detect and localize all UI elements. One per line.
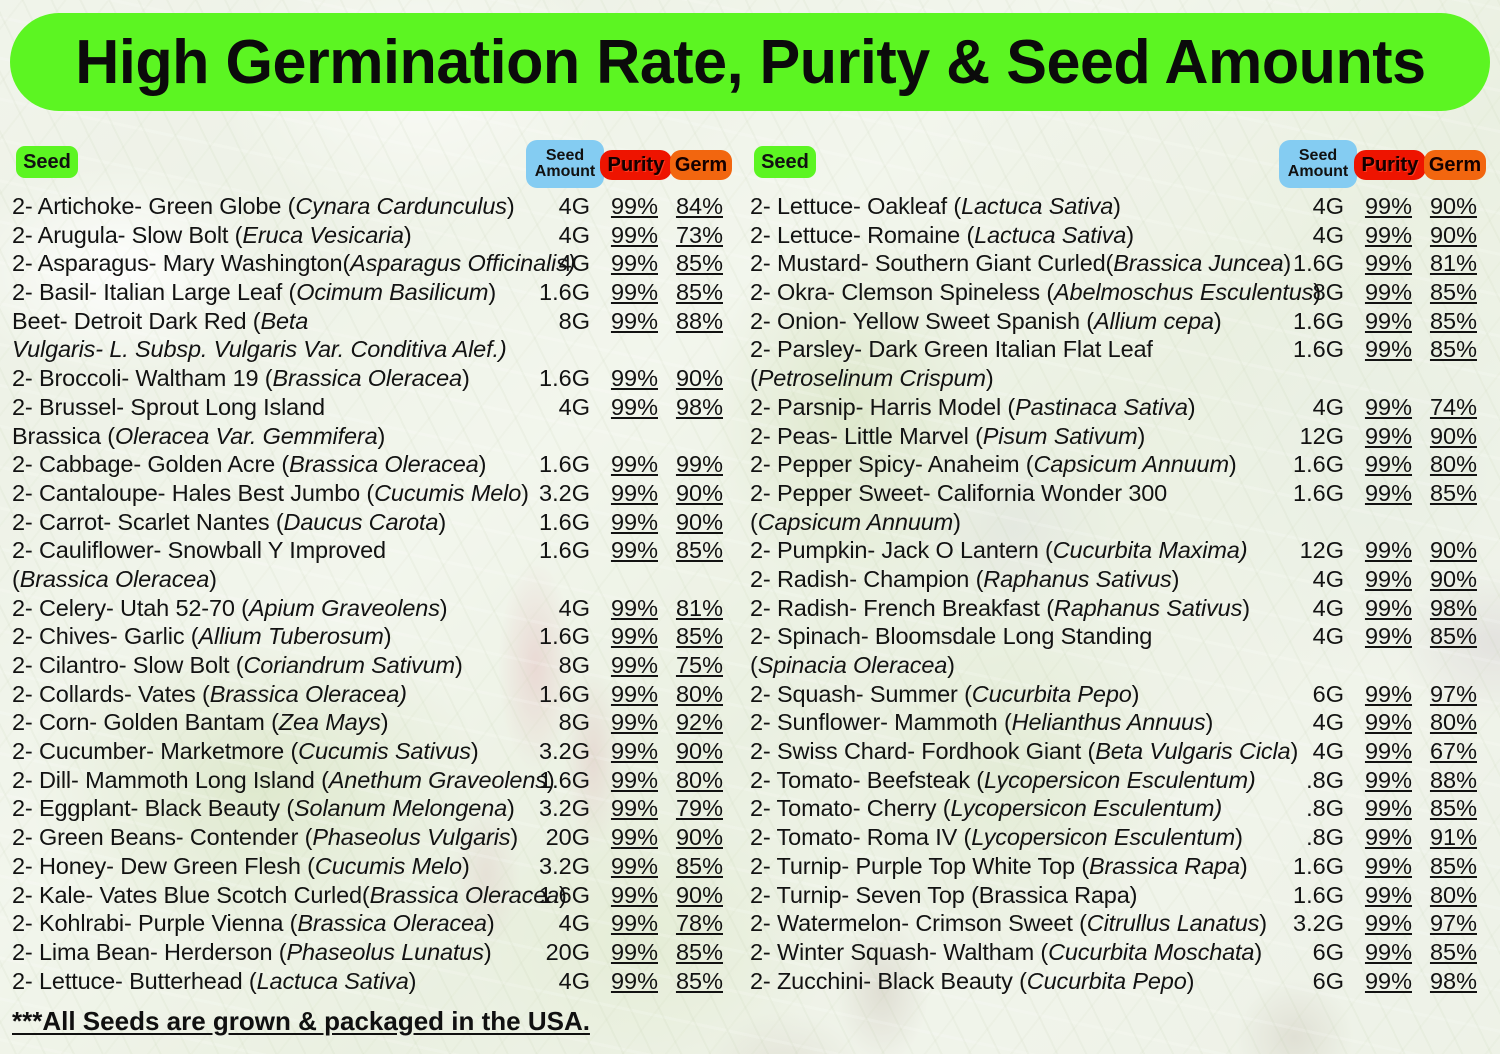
- purity-value: 99%: [596, 249, 658, 278]
- seed-amount-value: 20G: [516, 938, 590, 967]
- seed-row: 2- Onion- Yellow Sweet Spanish (Allium c…: [746, 307, 1494, 336]
- purity-value: 99%: [1350, 422, 1412, 451]
- seed-name: 2- Kohlrabi- Purple Vienna (Brassica Ole…: [12, 909, 495, 938]
- germ-value: 91%: [1419, 823, 1477, 852]
- seed-amount-value: 4G: [1270, 594, 1344, 623]
- scientific-name: Cucumis Melo: [315, 853, 462, 879]
- seed-row: 2- Parsley- Dark Green Italian Flat Leaf…: [746, 335, 1494, 364]
- scientific-name: Lycopersicon Esculentum): [984, 767, 1256, 793]
- scientific-name: Capsicum Annuum: [1033, 451, 1228, 477]
- seed-amount-value: 4G: [516, 393, 590, 422]
- seed-amount-value: 4G: [516, 594, 590, 623]
- seed-row: 2- Cucumber- Marketmore (Cucumis Sativus…: [8, 737, 734, 766]
- germ-value: 85%: [1419, 278, 1477, 307]
- seed-name: 2- Corn- Golden Bantam (Zea Mays): [12, 708, 388, 737]
- seed-amount-value: 1.6G: [1270, 479, 1344, 508]
- seed-name: 2- Basil- Italian Large Leaf (Ocimum Bas…: [12, 278, 496, 307]
- seed-amount-value: 4G: [516, 909, 590, 938]
- seed-row: 2- Green Beans- Contender (Phaseolus Vul…: [8, 823, 734, 852]
- seed-amount-value: 12G: [1270, 536, 1344, 565]
- seed-amount-value: 8G: [1270, 278, 1344, 307]
- seed-name: (Spinacia Oleracea): [750, 651, 955, 680]
- seed-name: 2- Swiss Chard- Fordhook Giant (Beta Vul…: [750, 737, 1298, 766]
- seed-list-right-column: 2- Lettuce- Oakleaf (Lactuca Sativa)4G99…: [746, 192, 1494, 995]
- germ-value: 85%: [1419, 938, 1477, 967]
- purity-value: 99%: [596, 794, 658, 823]
- scientific-name: Cucumis Melo: [374, 480, 521, 506]
- seed-name: 2- Radish- Champion (Raphanus Sativus): [750, 565, 1179, 594]
- purity-value: 99%: [596, 594, 658, 623]
- seed-amount-value: 4G: [1270, 393, 1344, 422]
- seed-name: 2- Winter Squash- Waltham (Cucurbita Mos…: [750, 938, 1262, 967]
- seed-name: 2- Tomato- Roma IV (Lycopersicon Esculen…: [750, 823, 1243, 852]
- seed-name: 2- Onion- Yellow Sweet Spanish (Allium c…: [750, 307, 1222, 336]
- seed-name: 2- Tomato- Beefsteak (Lycopersicon Escul…: [750, 766, 1256, 795]
- seed-row: (Capsicum Annuum): [746, 508, 1494, 537]
- seed-amount-value: 12G: [1270, 422, 1344, 451]
- seed-name: 2- Eggplant- Black Beauty (Solanum Melon…: [12, 794, 515, 823]
- purity-value: 99%: [596, 192, 658, 221]
- seed-name: 2- Lettuce- Oakleaf (Lactuca Sativa): [750, 192, 1121, 221]
- seed-amount-value: 1.6G: [516, 622, 590, 651]
- seed-name: 2- Celery- Utah 52-70 (Apium Graveolens): [12, 594, 447, 623]
- seed-row: 2- Arugula- Slow Bolt (Eruca Vesicaria)4…: [8, 221, 734, 250]
- purity-value: 99%: [596, 909, 658, 938]
- seed-amount-value: 1.6G: [516, 450, 590, 479]
- seed-row: 2- Zucchini- Black Beauty (Cucurbita Pep…: [746, 967, 1494, 996]
- seed-name: 2- Cauliflower- Snowball Y Improved: [12, 536, 386, 565]
- germ-value: 90%: [1419, 422, 1477, 451]
- purity-value: 99%: [1350, 794, 1412, 823]
- seed-row: 2- Lettuce- Romaine (Lactuca Sativa)4G99…: [746, 221, 1494, 250]
- scientific-name: Solanum Melongena: [294, 795, 507, 821]
- seed-name: 2- Green Beans- Contender (Phaseolus Vul…: [12, 823, 518, 852]
- germ-value: 78%: [665, 909, 723, 938]
- seed-name: 2- Kale- Vates Blue Scotch Curled(Brassi…: [12, 881, 567, 910]
- purity-value: 99%: [1350, 852, 1412, 881]
- seed-amount-value: 20G: [516, 823, 590, 852]
- seed-row: (Brassica Oleracea): [8, 565, 734, 594]
- purity-value: 99%: [596, 508, 658, 537]
- scientific-name: Cucurbita Pepo: [972, 681, 1132, 707]
- purity-value: 99%: [1350, 881, 1412, 910]
- germ-value: 99%: [665, 450, 723, 479]
- seed-amount-value: 4G: [1270, 221, 1344, 250]
- seed-name: 2- Sunflower- Mammoth (Helianthus Annuus…: [750, 708, 1213, 737]
- seed-amount-value: .8G: [1270, 766, 1344, 795]
- seed-row: 2- Winter Squash- Waltham (Cucurbita Mos…: [746, 938, 1494, 967]
- germ-value: 90%: [665, 508, 723, 537]
- purity-column-header-badge: Purity: [1354, 150, 1426, 180]
- scientific-name: Cucumis Sativus: [298, 738, 471, 764]
- seed-row: 2- Artichoke- Green Globe (Cynara Cardun…: [8, 192, 734, 221]
- purity-value: 99%: [1350, 221, 1412, 250]
- germ-value: 85%: [665, 249, 723, 278]
- seed-name: 2- Cilantro- Slow Bolt (Coriandrum Sativ…: [12, 651, 463, 680]
- seed-row: 2- Kohlrabi- Purple Vienna (Brassica Ole…: [8, 909, 734, 938]
- germ-value: 85%: [665, 622, 723, 651]
- seed-amount-value: 1.6G: [1270, 249, 1344, 278]
- seed-row: Vulgaris- L. Subsp. Vulgaris Var. Condit…: [8, 335, 734, 364]
- scientific-name: Petroselinum Crispum: [758, 365, 986, 391]
- germ-value: 80%: [1419, 450, 1477, 479]
- scientific-name: Capsicum Annuum: [758, 509, 953, 535]
- purity-value: 99%: [1350, 249, 1412, 278]
- seed-row: 2- Collards- Vates (Brassica Oleracea)1.…: [8, 680, 734, 709]
- scientific-name: Cynara Cardunculus: [295, 193, 507, 219]
- purity-value: 99%: [596, 278, 658, 307]
- scientific-name: Brassica Oleracea: [289, 451, 478, 477]
- seed-amount-value: 4G: [516, 249, 590, 278]
- scientific-name: Coriandrum Sativum: [243, 652, 455, 678]
- germ-value: 74%: [1419, 393, 1477, 422]
- seed-name: 2- Watermelon- Crimson Sweet (Citrullus …: [750, 909, 1267, 938]
- purity-value: 99%: [1350, 737, 1412, 766]
- scientific-name: Pisum Sativum: [983, 423, 1138, 449]
- scientific-name: Lactuca Sativa: [257, 968, 409, 994]
- seed-row: 2- Okra- Clemson Spineless (Abelmoschus …: [746, 278, 1494, 307]
- scientific-name: Cucurbita Moschata: [1048, 939, 1254, 965]
- purity-value: 99%: [596, 536, 658, 565]
- seed-amount-value: 1.6G: [1270, 881, 1344, 910]
- seed-row: 2- Turnip- Seven Top (Brassica Rapa)1.6G…: [746, 881, 1494, 910]
- scientific-name: Anethum Graveolens: [329, 767, 547, 793]
- germ-value: 90%: [665, 737, 723, 766]
- germ-value: 85%: [1419, 852, 1477, 881]
- scientific-name: Pastinaca Sativa: [1015, 394, 1188, 420]
- seed-amount-value: .8G: [1270, 823, 1344, 852]
- germ-value: 85%: [665, 852, 723, 881]
- seed-name: 2- Collards- Vates (Brassica Oleracea): [12, 680, 407, 709]
- purity-column-header-badge: Purity: [600, 150, 672, 180]
- seed-amount-value: 6G: [1270, 680, 1344, 709]
- purity-value: 99%: [1350, 909, 1412, 938]
- seed-name: (Petroselinum Crispum): [750, 364, 994, 393]
- germ-value: 85%: [1419, 794, 1477, 823]
- seed-row: 2- Lima Bean- Herderson (Phaseolus Lunat…: [8, 938, 734, 967]
- purity-value: 99%: [596, 479, 658, 508]
- purity-value: 99%: [1350, 622, 1412, 651]
- seed-column-header-badge: Seed: [16, 146, 78, 178]
- seed-amount-label-line2: Amount: [535, 164, 595, 180]
- seed-amount-value: 4G: [1270, 565, 1344, 594]
- seed-row: 2- Honey- Dew Green Flesh (Cucumis Melo)…: [8, 852, 734, 881]
- seed-name: 2- Turnip- Seven Top (Brassica Rapa): [750, 881, 1137, 910]
- scientific-name: Lactuca Sativa: [974, 222, 1126, 248]
- germ-value: 90%: [665, 823, 723, 852]
- scientific-name: Raphanus Sativus: [983, 566, 1171, 592]
- seed-amount-label-line2: Amount: [1288, 164, 1348, 180]
- seed-amount-value: 1.6G: [516, 536, 590, 565]
- purity-value: 99%: [1350, 479, 1412, 508]
- germ-value: 90%: [665, 881, 723, 910]
- seed-name: 2- Artichoke- Green Globe (Cynara Cardun…: [12, 192, 515, 221]
- germ-value: 85%: [1419, 335, 1477, 364]
- seed-row: (Petroselinum Crispum): [746, 364, 1494, 393]
- seed-amount-column-header-badge: Seed Amount: [1279, 140, 1357, 188]
- seed-amount-value: 1.6G: [516, 680, 590, 709]
- seed-row: 2- Pepper Spicy- Anaheim (Capsicum Annuu…: [746, 450, 1494, 479]
- seed-amount-value: 8G: [516, 708, 590, 737]
- seed-name: Vulgaris- L. Subsp. Vulgaris Var. Condit…: [12, 335, 507, 364]
- seed-row: 2- Watermelon- Crimson Sweet (Citrullus …: [746, 909, 1494, 938]
- scientific-name: Lycopersicon Esculentum): [950, 795, 1222, 821]
- germ-value: 73%: [665, 221, 723, 250]
- scientific-name: Brassica Juncea: [1113, 250, 1283, 276]
- germ-value: 85%: [665, 938, 723, 967]
- germ-value: 80%: [1419, 881, 1477, 910]
- seed-list-left-column: 2- Artichoke- Green Globe (Cynara Cardun…: [8, 192, 734, 995]
- seed-amount-value: 1.6G: [516, 881, 590, 910]
- seed-name: 2- Pepper Spicy- Anaheim (Capsicum Annuu…: [750, 450, 1237, 479]
- seed-name: 2- Okra- Clemson Spineless (Abelmoschus …: [750, 278, 1321, 307]
- seed-row: 2- Tomato- Roma IV (Lycopersicon Esculen…: [746, 823, 1494, 852]
- seed-amount-value: 4G: [1270, 622, 1344, 651]
- purity-value: 99%: [596, 708, 658, 737]
- seed-row: 2- Corn- Golden Bantam (Zea Mays)8G99%92…: [8, 708, 734, 737]
- column-header-right: Seed Seed Amount Purity Germ: [746, 140, 1492, 188]
- seed-row: 2- Radish- French Breakfast (Raphanus Sa…: [746, 594, 1494, 623]
- germ-value: 90%: [1419, 536, 1477, 565]
- seed-row: 2- Broccoli- Waltham 19 (Brassica Olerac…: [8, 364, 734, 393]
- purity-value: 99%: [596, 221, 658, 250]
- germ-column-header-badge: Germ: [670, 150, 732, 180]
- scientific-name: Cucurbita Maxima): [1053, 537, 1248, 563]
- purity-value: 99%: [1350, 823, 1412, 852]
- scientific-name: Brassica Rapa: [1089, 853, 1240, 879]
- seed-row: 2- Cauliflower- Snowball Y Improved1.6G9…: [8, 536, 734, 565]
- purity-value: 99%: [596, 680, 658, 709]
- germ-value: 80%: [665, 766, 723, 795]
- seed-row: 2- Basil- Italian Large Leaf (Ocimum Bas…: [8, 278, 734, 307]
- seed-row: 2- Pepper Sweet- California Wonder 3001.…: [746, 479, 1494, 508]
- page-title-banner: High Germination Rate, Purity & Seed Amo…: [10, 13, 1490, 111]
- scientific-name: Zea Mays: [279, 709, 381, 735]
- germ-value: 97%: [1419, 680, 1477, 709]
- seed-name: 2- Radish- French Breakfast (Raphanus Sa…: [750, 594, 1250, 623]
- purity-value: 99%: [596, 651, 658, 680]
- seed-amount-value: 4G: [516, 967, 590, 996]
- seed-name: 2- Cucumber- Marketmore (Cucumis Sativus…: [12, 737, 479, 766]
- purity-value: 99%: [1350, 766, 1412, 795]
- seed-row: (Spinacia Oleracea): [746, 651, 1494, 680]
- germ-value: 90%: [1419, 565, 1477, 594]
- scientific-name: Eruca Vesicaria: [242, 222, 403, 248]
- scientific-name: Ocimum Basilicum: [296, 279, 488, 305]
- seed-amount-label-line1: Seed: [1299, 148, 1337, 164]
- seed-name: 2- Asparagus- Mary Washington(Asparagus …: [12, 249, 575, 278]
- seed-row: 2- Tomato- Beefsteak (Lycopersicon Escul…: [746, 766, 1494, 795]
- germ-value: 98%: [1419, 967, 1477, 996]
- seed-row: 2- Mustard- Southern Giant Curled(Brassi…: [746, 249, 1494, 278]
- scientific-name: Lycopersicon Esculentum: [971, 824, 1235, 850]
- germ-value: 92%: [665, 708, 723, 737]
- purity-value: 99%: [596, 307, 658, 336]
- scientific-name: Daucus Carota: [284, 509, 439, 535]
- seed-row: 2- Spinach- Bloomsdale Long Standing4G99…: [746, 622, 1494, 651]
- seed-row: 2- Eggplant- Black Beauty (Solanum Melon…: [8, 794, 734, 823]
- seed-name: 2- Lettuce- Romaine (Lactuca Sativa): [750, 221, 1134, 250]
- seed-name: 2- Lettuce- Butterhead (Lactuca Sativa): [12, 967, 416, 996]
- purity-value: 99%: [1350, 708, 1412, 737]
- purity-value: 99%: [596, 737, 658, 766]
- seed-amount-value: 1.6G: [1270, 450, 1344, 479]
- purity-value: 99%: [596, 622, 658, 651]
- seed-amount-value: 4G: [516, 221, 590, 250]
- column-header-left: Seed Seed Amount Purity Germ: [8, 140, 730, 188]
- germ-value: 85%: [1419, 479, 1477, 508]
- seed-amount-value: 1.6G: [1270, 335, 1344, 364]
- seed-row: 2- Lettuce- Oakleaf (Lactuca Sativa)4G99…: [746, 192, 1494, 221]
- seed-row: 2- Cabbage- Golden Acre (Brassica Olerac…: [8, 450, 734, 479]
- germ-value: 90%: [665, 479, 723, 508]
- scientific-name: Beta Vulgaris Cicla: [1095, 738, 1290, 764]
- seed-row: 2- Chives- Garlic (Allium Tuberosum)1.6G…: [8, 622, 734, 651]
- seed-name: 2- Squash- Summer (Cucurbita Pepo): [750, 680, 1139, 709]
- seed-row: 2- Peas- Little Marvel (Pisum Sativum)12…: [746, 422, 1494, 451]
- germ-value: 85%: [665, 536, 723, 565]
- seed-amount-label-line1: Seed: [546, 148, 584, 164]
- purity-value: 99%: [596, 967, 658, 996]
- scientific-name: Allium Tuberosum: [198, 623, 383, 649]
- germ-value: 67%: [1419, 737, 1477, 766]
- germ-value: 88%: [1419, 766, 1477, 795]
- seed-name: 2- Parsley- Dark Green Italian Flat Leaf: [750, 335, 1153, 364]
- purity-value: 99%: [596, 393, 658, 422]
- germ-value: 79%: [665, 794, 723, 823]
- seed-name: 2- Arugula- Slow Bolt (Eruca Vesicaria): [12, 221, 412, 250]
- scientific-name: Citrullus Lanatus: [1087, 910, 1259, 936]
- seed-row: 2- Radish- Champion (Raphanus Sativus)4G…: [746, 565, 1494, 594]
- purity-value: 99%: [1350, 565, 1412, 594]
- seed-name: 2- Honey- Dew Green Flesh (Cucumis Melo): [12, 852, 470, 881]
- seed-name: 2- Carrot- Scarlet Nantes (Daucus Carota…: [12, 508, 446, 537]
- seed-amount-value: 8G: [516, 651, 590, 680]
- seed-row: 2- Swiss Chard- Fordhook Giant (Beta Vul…: [746, 737, 1494, 766]
- germ-value: 88%: [665, 307, 723, 336]
- seed-amount-value: 8G: [516, 307, 590, 336]
- purity-value: 99%: [1350, 450, 1412, 479]
- seed-row: 2- Carrot- Scarlet Nantes (Daucus Carota…: [8, 508, 734, 537]
- germ-value: 75%: [665, 651, 723, 680]
- seed-amount-value: 4G: [1270, 192, 1344, 221]
- seed-amount-value: 4G: [516, 192, 590, 221]
- seed-row: 2- Brussel- Sprout Long Island4G99%98%: [8, 393, 734, 422]
- seed-name: Brassica (Oleracea Var. Gemmifera): [12, 422, 385, 451]
- germ-value: 80%: [1419, 708, 1477, 737]
- purity-value: 99%: [1350, 938, 1412, 967]
- scientific-name: Helianthus Annuus: [1012, 709, 1206, 735]
- seed-amount-value: 3.2G: [516, 852, 590, 881]
- germ-value: 85%: [1419, 307, 1477, 336]
- seed-row: Brassica (Oleracea Var. Gemmifera): [8, 422, 734, 451]
- seed-name: 2- Cantaloupe- Hales Best Jumbo (Cucumis…: [12, 479, 529, 508]
- germ-value: 90%: [1419, 192, 1477, 221]
- scientific-name: Brassica Oleracea: [272, 365, 461, 391]
- page-title: High Germination Rate, Purity & Seed Amo…: [75, 27, 1425, 98]
- seed-row: 2- Parsnip- Harris Model (Pastinaca Sati…: [746, 393, 1494, 422]
- germ-value: 98%: [1419, 594, 1477, 623]
- purity-value: 99%: [596, 766, 658, 795]
- seed-amount-value: 3.2G: [516, 794, 590, 823]
- scientific-name: Spinacia Oleracea: [758, 652, 947, 678]
- seed-name: (Capsicum Annuum): [750, 508, 961, 537]
- seed-amount-value: .8G: [1270, 794, 1344, 823]
- seed-amount-value: 6G: [1270, 938, 1344, 967]
- germ-value: 80%: [665, 680, 723, 709]
- germ-value: 90%: [665, 364, 723, 393]
- seed-amount-value: 3.2G: [516, 737, 590, 766]
- seed-name: 2- Cabbage- Golden Acre (Brassica Olerac…: [12, 450, 486, 479]
- purity-value: 99%: [596, 823, 658, 852]
- scientific-name: Brassica Oleracea: [297, 910, 486, 936]
- germ-value: 81%: [665, 594, 723, 623]
- seed-amount-value: 1.6G: [516, 766, 590, 795]
- scientific-name: Brassica Oleracea: [20, 566, 209, 592]
- germ-value: 85%: [1419, 622, 1477, 651]
- purity-value: 99%: [596, 364, 658, 393]
- seed-row: 2- Lettuce- Butterhead (Lactuca Sativa)4…: [8, 967, 734, 996]
- scientific-name: Phaseolus Vulgaris: [312, 824, 510, 850]
- seed-amount-value: 6G: [1270, 967, 1344, 996]
- germ-column-header-badge: Germ: [1424, 150, 1486, 180]
- purity-value: 99%: [1350, 967, 1412, 996]
- purity-value: 99%: [1350, 335, 1412, 364]
- seed-amount-value: 1.6G: [516, 278, 590, 307]
- scientific-name: Allium cepa: [1094, 308, 1214, 334]
- usa-disclaimer: ***All Seeds are grown & packaged in the…: [12, 1006, 590, 1037]
- seed-name: 2- Parsnip- Harris Model (Pastinaca Sati…: [750, 393, 1195, 422]
- germ-value: 81%: [1419, 249, 1477, 278]
- seed-row: 2- Pumpkin- Jack O Lantern (Cucurbita Ma…: [746, 536, 1494, 565]
- seed-name: 2- Dill- Mammoth Long Island (Anethum Gr…: [12, 766, 555, 795]
- seed-name: 2- Chives- Garlic (Allium Tuberosum): [12, 622, 391, 651]
- seed-row: 2- Cantaloupe- Hales Best Jumbo (Cucumis…: [8, 479, 734, 508]
- scientific-name: Phaseolus Lunatus: [286, 939, 483, 965]
- purity-value: 99%: [1350, 393, 1412, 422]
- seed-row: 2- Sunflower- Mammoth (Helianthus Annuus…: [746, 708, 1494, 737]
- seed-amount-value: 1.6G: [516, 364, 590, 393]
- purity-value: 99%: [1350, 307, 1412, 336]
- seed-name: 2- Mustard- Southern Giant Curled(Brassi…: [750, 249, 1291, 278]
- germ-value: 85%: [665, 278, 723, 307]
- seed-name: 2- Spinach- Bloomsdale Long Standing: [750, 622, 1152, 651]
- seed-amount-value: 1.6G: [516, 508, 590, 537]
- seed-amount-column-header-badge: Seed Amount: [526, 140, 604, 188]
- purity-value: 99%: [1350, 594, 1412, 623]
- germ-value: 98%: [665, 393, 723, 422]
- seed-name: 2- Turnip- Purple Top White Top (Brassic…: [750, 852, 1248, 881]
- scientific-name: Cucurbita Pepo: [1027, 968, 1187, 994]
- seed-column-header-badge: Seed: [754, 146, 816, 178]
- seed-name: Beet- Detroit Dark Red (Beta: [12, 307, 308, 336]
- seed-name: 2- Pepper Sweet- California Wonder 300: [750, 479, 1167, 508]
- purity-value: 99%: [1350, 680, 1412, 709]
- purity-value: 99%: [596, 938, 658, 967]
- seed-name: 2- Peas- Little Marvel (Pisum Sativum): [750, 422, 1145, 451]
- seed-row: 2- Asparagus- Mary Washington(Asparagus …: [8, 249, 734, 278]
- germ-value: 90%: [1419, 221, 1477, 250]
- purity-value: 99%: [1350, 278, 1412, 307]
- seed-amount-value: 1.6G: [1270, 307, 1344, 336]
- seed-name: 2- Zucchini- Black Beauty (Cucurbita Pep…: [750, 967, 1194, 996]
- seed-name: 2- Brussel- Sprout Long Island: [12, 393, 325, 422]
- purity-value: 99%: [1350, 192, 1412, 221]
- seed-row: 2- Dill- Mammoth Long Island (Anethum Gr…: [8, 766, 734, 795]
- seed-amount-value: 3.2G: [516, 479, 590, 508]
- purity-value: 99%: [596, 852, 658, 881]
- germ-value: 97%: [1419, 909, 1477, 938]
